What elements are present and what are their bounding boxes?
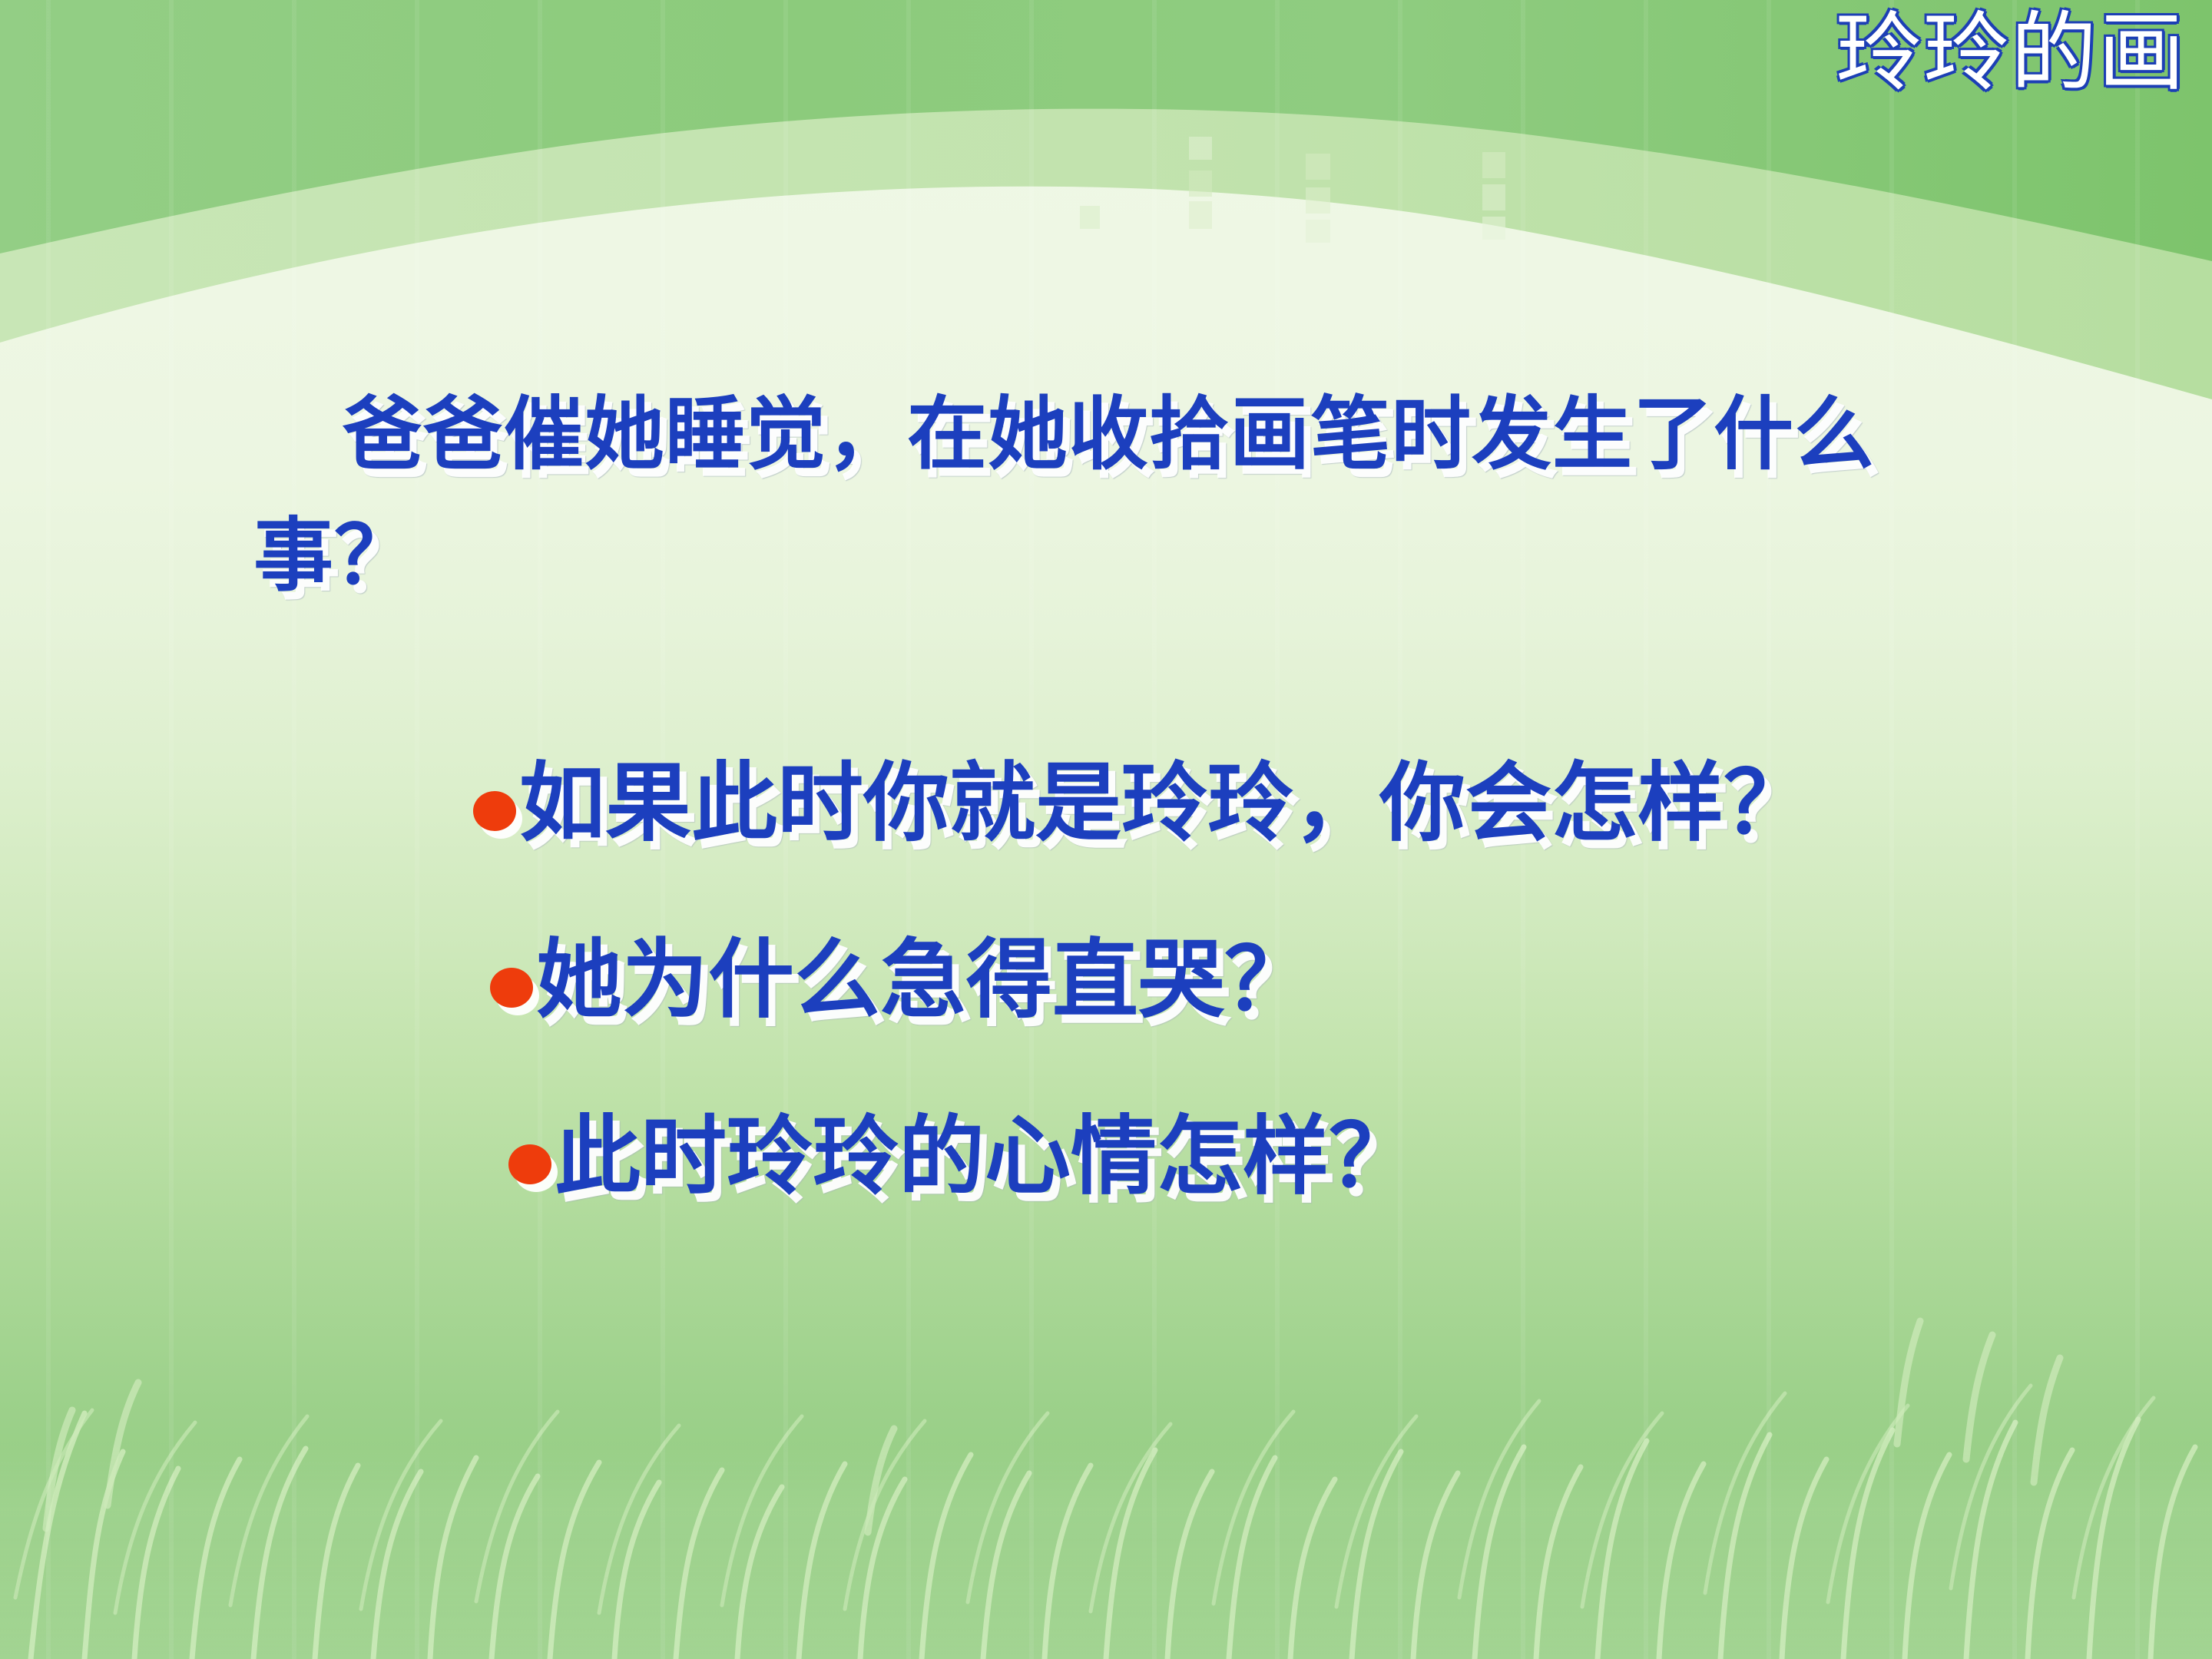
question-list: 如果此时你就是玲玲，你会怎样？ 她为什么急得直哭？ 此时玲玲的心情怎样？ <box>0 753 2212 1283</box>
list-item: 此时玲玲的心情怎样？ <box>0 1106 2212 1207</box>
grass-silhouettes <box>0 1321 2212 1659</box>
list-item: 如果此时你就是玲玲，你会怎样？ <box>0 753 2212 854</box>
list-item-label: 如果此时你就是玲玲，你会怎样？ <box>519 753 1810 854</box>
bullet-dot-icon <box>490 968 533 1008</box>
bullet-dot-icon <box>473 791 516 831</box>
list-item-label: 此时玲玲的心情怎样？ <box>555 1106 1415 1207</box>
bullet-dot-icon <box>508 1144 551 1184</box>
slide-title: 玲玲的画 <box>1836 5 2186 104</box>
intro-paragraph: 爸爸催她睡觉，在她收拾画笔时发生了什么事？ <box>253 375 1928 618</box>
presentation-slide: 玲玲的画 爸爸催她睡觉，在她收拾画笔时发生了什么事？ 如果此时你就是玲玲，你会怎… <box>0 0 2212 1659</box>
list-item: 她为什么急得直哭？ <box>0 929 2212 1031</box>
list-item-label: 她为什么急得直哭？ <box>536 929 1310 1031</box>
